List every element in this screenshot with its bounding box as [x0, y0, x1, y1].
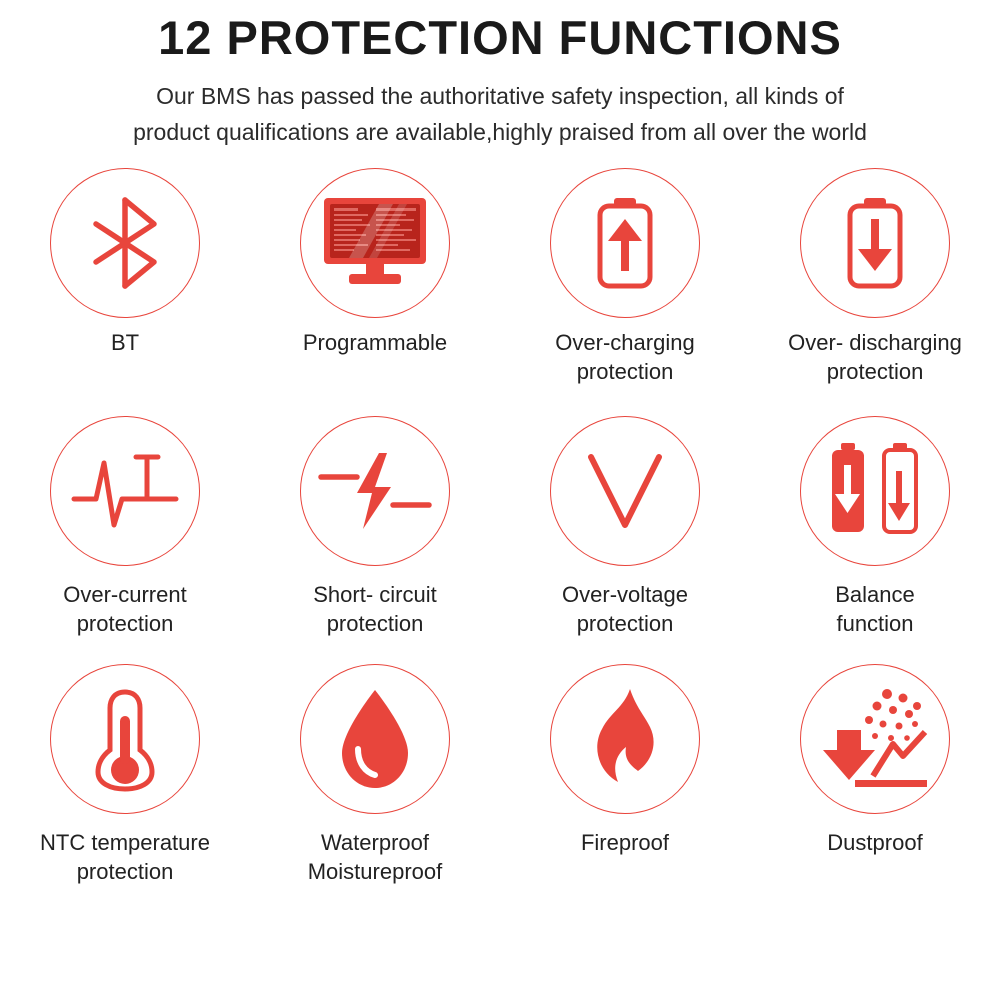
feature-label: Balance function — [753, 580, 998, 638]
lightning-bolt-icon — [317, 445, 433, 537]
feature-icon-circle — [800, 416, 950, 566]
flame-icon — [588, 687, 662, 791]
feature-icon-circle — [50, 664, 200, 814]
voltage-v-icon — [579, 445, 671, 537]
feature-icon-circle — [300, 664, 450, 814]
feature-icon-circle — [300, 416, 450, 566]
feature-icon-circle — [550, 416, 700, 566]
feature-item-programmable: Programmable — [250, 168, 500, 416]
feature-icon-circle — [300, 168, 450, 318]
battery-down-arrow-icon — [838, 193, 912, 293]
feature-item-over-charging: Over-charging protection — [500, 168, 750, 416]
feature-label: Over-current protection — [3, 580, 248, 638]
feature-icon-circle — [50, 416, 200, 566]
current-waveform-icon — [70, 445, 180, 537]
feature-item-dustproof: Dustproof — [750, 664, 1000, 912]
bluetooth-icon — [82, 194, 168, 292]
feature-label: NTC temperature protection — [3, 828, 248, 886]
water-drop-icon — [336, 687, 414, 791]
feature-label: Over-voltage protection — [503, 580, 748, 638]
feature-icon-circle — [550, 664, 700, 814]
feature-icon-circle — [50, 168, 200, 318]
feature-icon-circle — [800, 168, 950, 318]
features-grid: BT — [0, 168, 1000, 912]
feature-item-bt: BT — [0, 168, 250, 416]
thermometer-icon — [92, 686, 158, 792]
page-title: 12 PROTECTION FUNCTIONS — [0, 10, 1000, 66]
feature-item-fireproof: Fireproof — [500, 664, 750, 912]
feature-item-short-circuit: Short- circuit protection — [250, 416, 500, 664]
feature-item-balance: Balance function — [750, 416, 1000, 664]
feature-icon-circle — [800, 664, 950, 814]
feature-label: Waterproof Moistureproof — [253, 828, 498, 886]
feature-label: Short- circuit protection — [253, 580, 498, 638]
feature-item-over-voltage: Over-voltage protection — [500, 416, 750, 664]
dust-particles-icon — [821, 688, 929, 790]
two-batteries-balance-icon — [827, 441, 923, 541]
battery-up-arrow-icon — [588, 193, 662, 293]
feature-label: Dustproof — [753, 828, 998, 857]
feature-item-over-current: Over-current protection — [0, 416, 250, 664]
monitor-icon — [319, 195, 431, 291]
feature-label: Over- discharging protection — [753, 328, 998, 386]
feature-icon-circle — [550, 168, 700, 318]
subtitle-line-1: Our BMS has passed the authoritative saf… — [24, 78, 976, 114]
page-subtitle: Our BMS has passed the authoritative saf… — [24, 78, 976, 150]
subtitle-line-2: product qualifications are available,hig… — [24, 114, 976, 150]
feature-item-over-discharging: Over- discharging protection — [750, 168, 1000, 416]
feature-label: Over-charging protection — [503, 328, 748, 386]
feature-label: BT — [3, 328, 248, 357]
feature-item-ntc-temperature: NTC temperature protection — [0, 664, 250, 912]
feature-label: Fireproof — [503, 828, 748, 857]
feature-label: Programmable — [253, 328, 498, 357]
protection-functions-infographic: 12 PROTECTION FUNCTIONS Our BMS has pass… — [0, 10, 1000, 1000]
feature-item-waterproof: Waterproof Moistureproof — [250, 664, 500, 912]
